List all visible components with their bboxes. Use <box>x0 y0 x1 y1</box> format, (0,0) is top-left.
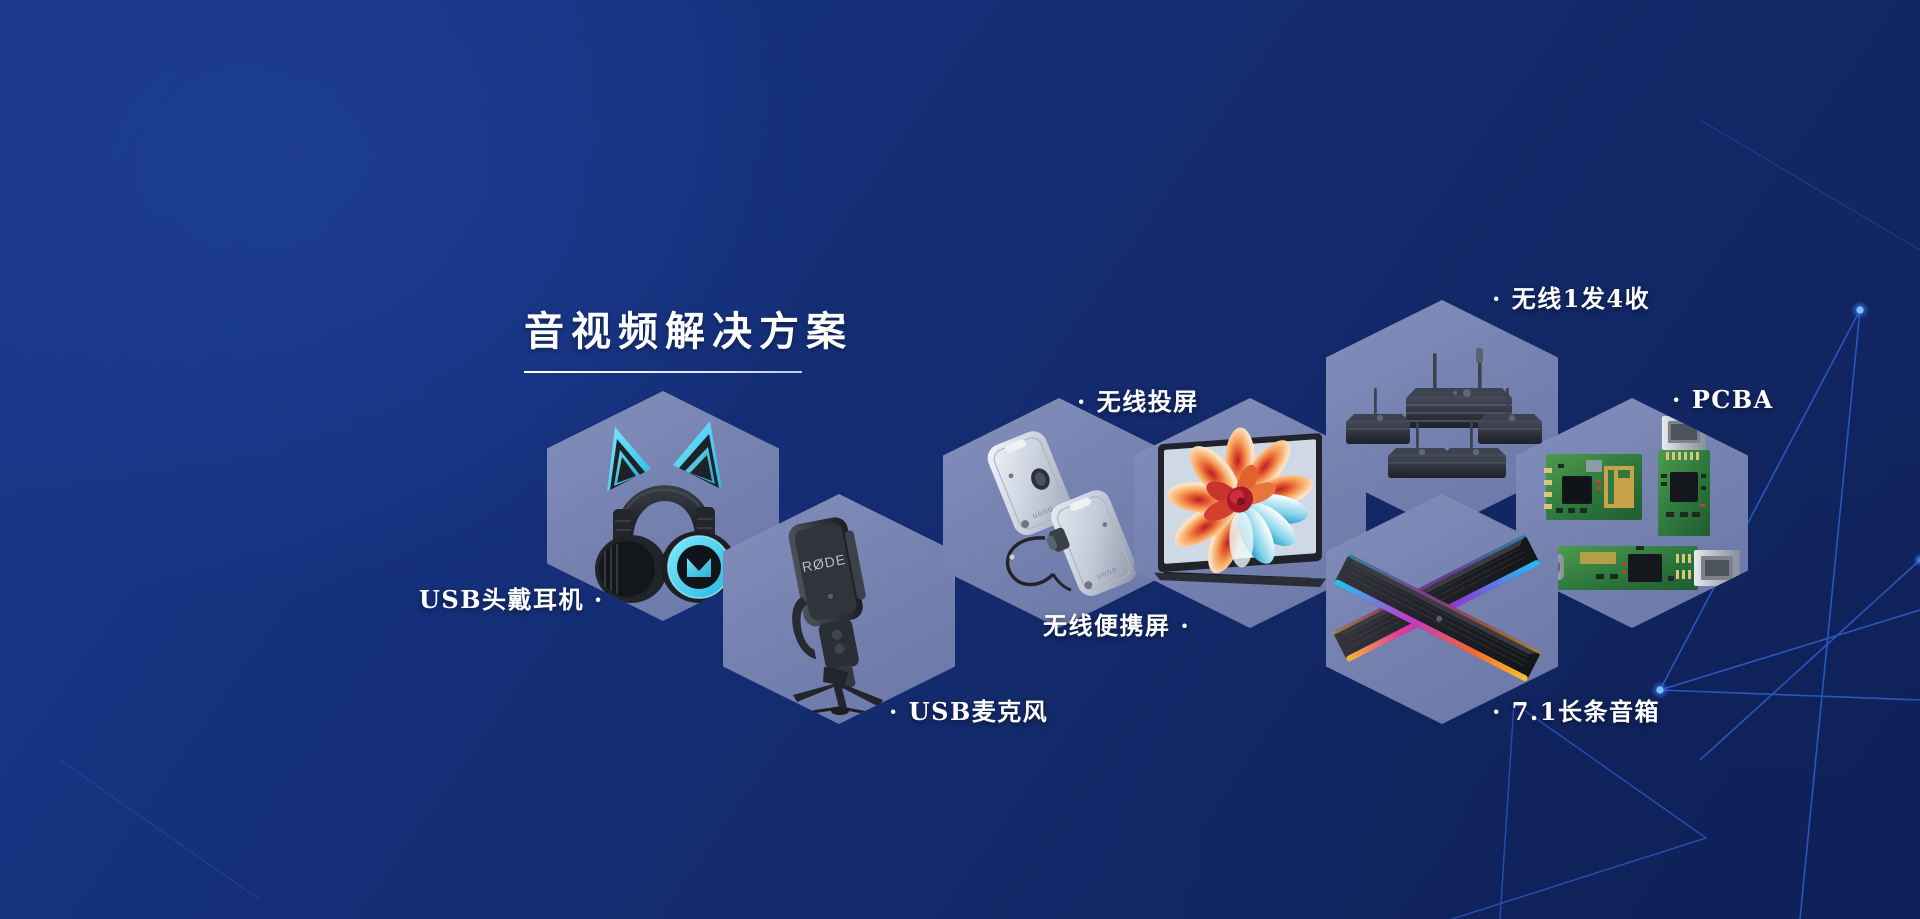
title-underline <box>524 371 802 373</box>
label-wireless-1t4r: · 无线1发4收 <box>1492 279 1650 314</box>
label-wireless-casting-text: · 无线投屏 <box>1077 387 1199 416</box>
label-wireless-1t4r-text: · 无线1发4收 <box>1492 284 1650 313</box>
label-usb-headset-text: USB头戴耳机 · <box>419 585 604 614</box>
poster-canvas: 音视频解决方案 <box>0 0 1920 919</box>
label-usb-microphone-text: · USB麦克风 <box>889 697 1048 726</box>
label-portable-monitor-text: 无线便携屏 · <box>1043 611 1190 640</box>
label-pcba: · PCBA <box>1672 385 1774 414</box>
label-usb-headset: USB头戴耳机 · <box>419 580 604 615</box>
label-soundbar-text: · 7.1长条音箱 <box>1492 697 1660 726</box>
label-usb-microphone: · USB麦克风 <box>889 692 1048 727</box>
page-title-block: 音视频解决方案 <box>524 312 853 373</box>
label-wireless-casting: · 无线投屏 <box>1077 382 1199 417</box>
label-pcba-text: · PCBA <box>1672 385 1774 414</box>
label-portable-monitor: 无线便携屏 · <box>1043 606 1190 641</box>
page-title: 音视频解决方案 <box>524 312 853 352</box>
label-soundbar: · 7.1长条音箱 <box>1492 692 1660 727</box>
